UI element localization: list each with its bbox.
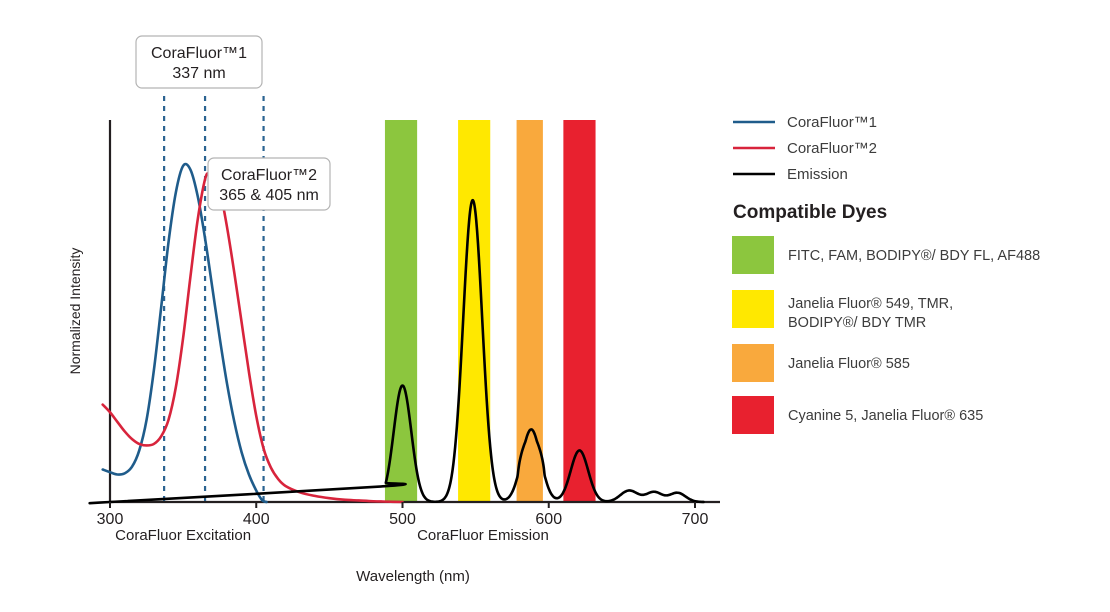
dye-label-1-line1: Janelia Fluor® 549, TMR, bbox=[788, 296, 953, 312]
callout-annotations: CoraFluor™1337 nmCoraFluor™2365 & 405 nm bbox=[136, 36, 330, 210]
axis-sublabel-1: CoraFluor Emission bbox=[417, 527, 549, 544]
dye-label-0-line1: FITC, FAM, BODIPY®/ BDY FL, AF488 bbox=[788, 248, 1040, 264]
callout-corafluor2-line2: 365 & 405 nm bbox=[219, 187, 319, 204]
x-axis-title: Wavelength (nm) bbox=[356, 568, 470, 585]
x-tick-label-700: 700 bbox=[682, 511, 709, 528]
dye-label-1-line2: BODIPY®/ BDY TMR bbox=[788, 315, 926, 331]
series-legend: CoraFluor™1CoraFluor™2Emission bbox=[733, 114, 877, 183]
dye-label-3-line1: Cyanine 5, Janelia Fluor® 635 bbox=[788, 408, 983, 424]
legend-label-1: CoraFluor™2 bbox=[787, 140, 877, 157]
legend-label-0: CoraFluor™1 bbox=[787, 114, 877, 131]
curve-excitation-2 bbox=[103, 173, 403, 502]
callout-corafluor1-line2: 337 nm bbox=[172, 65, 225, 82]
dye-swatch-0 bbox=[732, 236, 774, 274]
callout-corafluor2-line1: CoraFluor™2 bbox=[221, 167, 317, 184]
callout-corafluor1-line1: CoraFluor™1 bbox=[151, 45, 247, 62]
x-tick-label-600: 600 bbox=[535, 511, 562, 528]
y-axis-label: Normalized Intensity bbox=[67, 248, 83, 375]
x-tick-label-500: 500 bbox=[389, 511, 416, 528]
x-tick-label-300: 300 bbox=[97, 511, 124, 528]
compatible-dyes-legend: Compatible DyesFITC, FAM, BODIPY®/ BDY F… bbox=[732, 202, 1040, 434]
dye-label-2-line1: Janelia Fluor® 585 bbox=[788, 356, 910, 372]
fluorescence-spectra-figure: Normalized IntensityWavelength (nm)CoraF… bbox=[0, 0, 1110, 612]
compatible-dyes-heading: Compatible Dyes bbox=[733, 202, 887, 223]
x-tick-label-400: 400 bbox=[243, 511, 270, 528]
dye-swatch-2 bbox=[732, 344, 774, 382]
x-axis-ticks: 300400500600700 bbox=[97, 502, 709, 528]
band-red bbox=[563, 120, 595, 502]
axis-sublabel-0: CoraFluor Excitation bbox=[115, 527, 251, 544]
dye-swatch-3 bbox=[732, 396, 774, 434]
legend-label-2: Emission bbox=[787, 166, 848, 183]
dye-swatch-1 bbox=[732, 290, 774, 328]
